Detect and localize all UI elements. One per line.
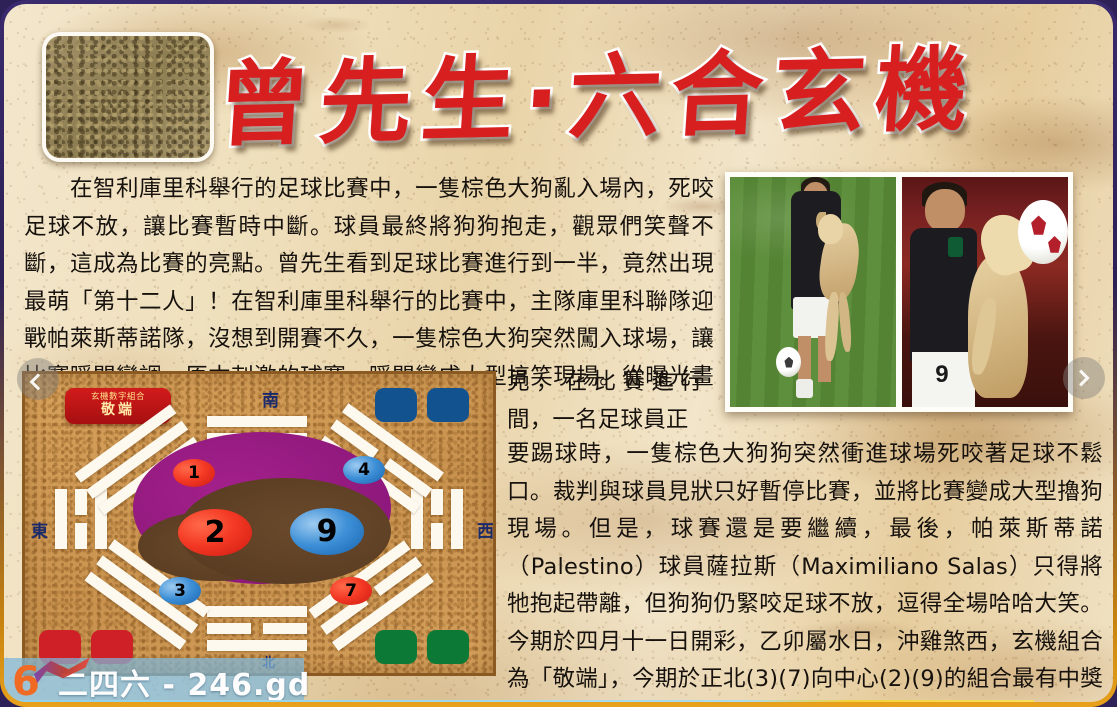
- chip-green-1[interactable]: [375, 630, 417, 664]
- soccer-ball-icon: [1018, 200, 1068, 264]
- page-root: 曾先生·六合玄機 在智利庫里科舉行的足球比賽中，一隻棕色大狗亂入場內，死咬足球不…: [0, 0, 1117, 707]
- watermark-accent-bar: [4, 700, 1034, 702]
- chevron-left-icon: [30, 373, 47, 390]
- lucky-number-7[interactable]: 7: [330, 577, 372, 605]
- direction-label-east: 東: [31, 517, 48, 542]
- direction-label-west: 西: [477, 517, 494, 542]
- dog-leg-back: [837, 292, 852, 352]
- lucky-number-9[interactable]: 9: [290, 508, 364, 555]
- article-paragraph-middle: 見，在比賽進行間，一名足球員正: [507, 364, 703, 439]
- article-paragraph-bottom: 要踢球時，一隻棕色大狗狗突然衝進球場死咬著足球不鬆口。裁判與球員見狀只好暫停比賽…: [507, 436, 1103, 702]
- lucky-number-3[interactable]: 3: [159, 577, 201, 605]
- player-jersey: [910, 228, 976, 361]
- header-thumbnail-image: [42, 32, 214, 162]
- chip-blue-2[interactable]: [427, 388, 469, 422]
- direction-label-south: 南: [262, 386, 279, 411]
- watermark-text: 二四六 - 246.gd: [58, 660, 310, 703]
- site-watermark: 6 二四六 - 246.gd: [4, 658, 304, 702]
- lucky-number-2[interactable]: 2: [178, 509, 252, 556]
- lucky-number-1[interactable]: 1: [173, 459, 215, 487]
- chip-blue-1[interactable]: [375, 388, 417, 422]
- team-crest: [948, 237, 963, 258]
- chip-green-2[interactable]: [427, 630, 469, 664]
- page-title: 曾先生·六合玄機: [214, 44, 980, 152]
- taiji-blob: [133, 432, 391, 584]
- parchment-sheet: 曾先生·六合玄機 在智利庫里科舉行的足球比賽中，一隻棕色大狗亂入場內，死咬足球不…: [4, 4, 1113, 702]
- watermark-logo-icon: 6: [12, 662, 52, 702]
- photo-player-carrying-dog: [730, 177, 896, 407]
- jersey-number: 9: [935, 361, 948, 389]
- player-head: [925, 189, 965, 233]
- dog-head: [818, 214, 843, 244]
- player-boot: [796, 379, 813, 397]
- combo-plaque-label: 敬端: [101, 402, 135, 420]
- prev-arrow-icon[interactable]: [17, 358, 59, 400]
- photo-player-holding-dog: 9: [902, 177, 1068, 407]
- masthead: 曾先生·六合玄機: [218, 38, 1058, 158]
- lucky-number-4[interactable]: 4: [343, 456, 385, 484]
- next-arrow-icon[interactable]: [1063, 357, 1105, 399]
- chevron-right-icon: [1073, 370, 1090, 387]
- photo-pair: 9: [725, 172, 1073, 412]
- bagua-board: 玄機數字組合 敬端 南 北 東 西: [22, 371, 496, 676]
- combo-plaque-sublabel: 玄機數字組合: [91, 393, 145, 402]
